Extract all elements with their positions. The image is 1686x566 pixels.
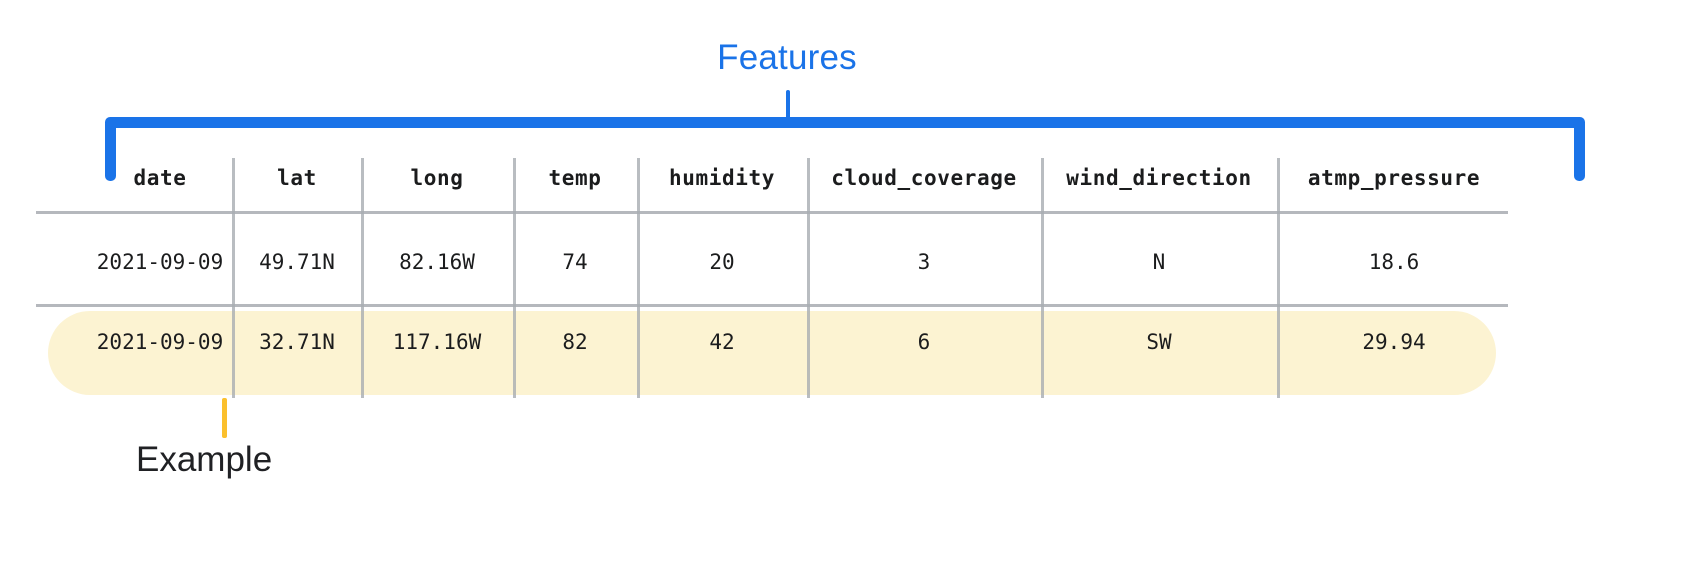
features-annotation-text: Features xyxy=(717,38,857,77)
cell-row0-cloud_coverage: 3 xyxy=(809,242,1039,282)
bracket-bar xyxy=(105,117,1585,128)
cell-row1-lat: 32.71N xyxy=(234,322,360,362)
features-annotation-label: Features xyxy=(0,38,1686,78)
header-divider-line xyxy=(36,211,1508,214)
cell-row1-date: 2021-09-09 xyxy=(90,322,230,362)
column-header-wind_direction: wind_direction xyxy=(1043,158,1275,198)
table-row: 2021-09-0932.71N117.16W82426SW29.94 xyxy=(0,322,1686,362)
column-header-cloud_coverage: cloud_coverage xyxy=(809,158,1039,198)
cell-row1-wind_direction: SW xyxy=(1043,322,1275,362)
cell-row0-date: 2021-09-09 xyxy=(90,242,230,282)
column-header-atmp_pressure: atmp_pressure xyxy=(1279,158,1509,198)
table-header-row: datelatlongtemphumiditycloud_coveragewin… xyxy=(0,158,1686,198)
diagram-canvas: Features datelatlongtemphumiditycloud_co… xyxy=(0,0,1686,566)
example-stem-icon xyxy=(222,398,227,438)
cell-row0-atmp_pressure: 18.6 xyxy=(1279,242,1509,282)
column-header-lat: lat xyxy=(234,158,360,198)
column-header-humidity: humidity xyxy=(639,158,805,198)
column-header-temp: temp xyxy=(515,158,635,198)
example-annotation-label: Example xyxy=(136,440,272,480)
cell-row0-temp: 74 xyxy=(515,242,635,282)
cell-row0-wind_direction: N xyxy=(1043,242,1275,282)
cell-row1-temp: 82 xyxy=(515,322,635,362)
column-header-long: long xyxy=(363,158,511,198)
cell-row1-atmp_pressure: 29.94 xyxy=(1279,322,1509,362)
cell-row1-long: 117.16W xyxy=(363,322,511,362)
column-header-date: date xyxy=(90,158,230,198)
cell-row0-long: 82.16W xyxy=(363,242,511,282)
features-table: datelatlongtemphumiditycloud_coveragewin… xyxy=(0,150,1686,400)
cell-row0-lat: 49.71N xyxy=(234,242,360,282)
table-row: 2021-09-0949.71N82.16W74203N18.6 xyxy=(0,242,1686,282)
cell-row1-humidity: 42 xyxy=(639,322,805,362)
row-divider-line xyxy=(36,304,1508,307)
example-annotation-text: Example xyxy=(136,440,272,479)
cell-row0-humidity: 20 xyxy=(639,242,805,282)
cell-row1-cloud_coverage: 6 xyxy=(809,322,1039,362)
